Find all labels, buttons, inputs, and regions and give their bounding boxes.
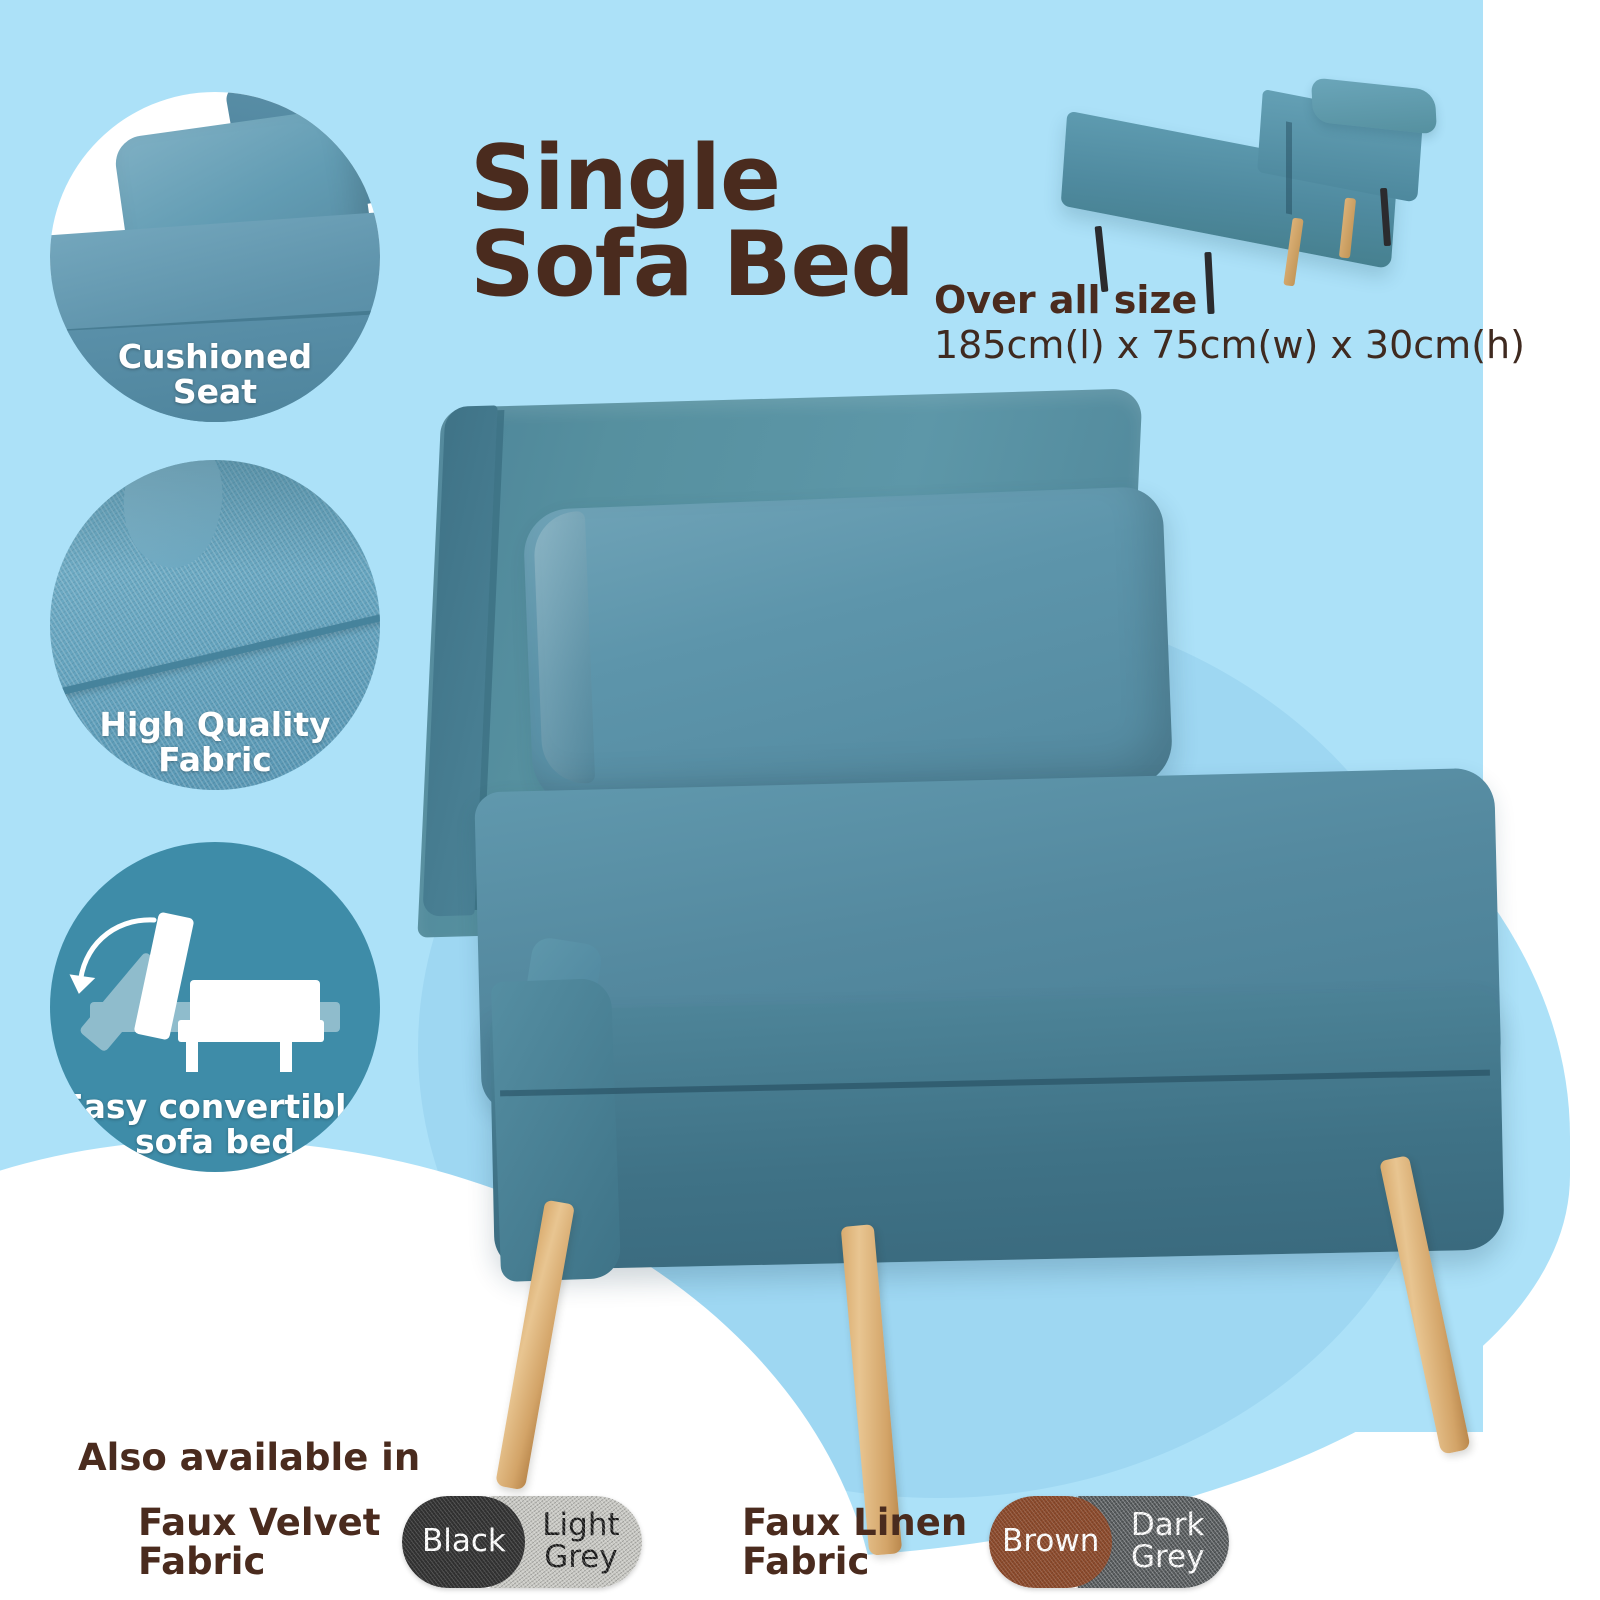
badge-fabric-shadow [50, 460, 380, 572]
fabric-label-linen: Faux Linen Fabric [742, 1503, 967, 1581]
feature-badge-easy-convertible: Easy convertible sofa bed [50, 842, 380, 1172]
sofa-bed-flat-photo [1050, 70, 1470, 290]
overall-size-block: Over all size 185cm(l) x 75cm(w) x 30cm(… [934, 278, 1525, 368]
flatbed-fold-seam [1286, 121, 1292, 214]
badge-caption-line-2: sofa bed [60, 1125, 370, 1160]
badge-caption: Easy convertible sofa bed [50, 1090, 380, 1160]
feature-badge-high-quality-fabric: High Quality Fabric [50, 460, 380, 790]
also-available-heading: Also available in [78, 1436, 420, 1479]
sofa-pillow-seam [533, 511, 595, 785]
fabric-label-line-2: Fabric [742, 1542, 967, 1581]
badge-caption-line-2: Fabric [60, 743, 370, 778]
badge-caption-line-1: High Quality [60, 708, 370, 743]
fabric-label-velvet: Faux Velvet Fabric [138, 1503, 380, 1581]
sofa-lumbar-pillow [522, 486, 1173, 810]
swatch-label-black: Black [422, 1526, 506, 1558]
title-line-1: Single [470, 136, 914, 222]
badge-caption: High Quality Fabric [50, 708, 380, 778]
swatch-label-line-1: Light [542, 1510, 619, 1542]
swatch-label-brown: Brown [1002, 1526, 1099, 1558]
swatch-label-line-2: Grey [542, 1542, 619, 1574]
page-title: Single Sofa Bed [470, 136, 914, 309]
product-infographic: Single Sofa Bed Over all size 185cm(l) x… [0, 0, 1600, 1600]
badge-caption-line-1: Easy convertible [60, 1090, 370, 1125]
sofa-base [489, 989, 1504, 1270]
title-line-2: Sofa Bed [470, 222, 914, 308]
colour-swatch-linen[interactable]: Brown Dark Grey [989, 1496, 1229, 1588]
badge-caption: Cushioned Seat [50, 340, 380, 410]
fabric-label-line-2: Fabric [138, 1542, 380, 1581]
option-group-faux-linen: Faux Linen Fabric Brown Dark Grey [742, 1496, 1229, 1588]
swatch-label-line-1: Dark [1131, 1510, 1205, 1542]
swatch-brown[interactable]: Brown [989, 1496, 1112, 1588]
swatch-black[interactable]: Black [402, 1496, 525, 1588]
swatch-label-line-2: Grey [1131, 1542, 1205, 1574]
size-dimensions: 185cm(l) x 75cm(w) x 30cm(h) [934, 323, 1525, 368]
size-label: Over all size [934, 278, 1525, 323]
convertible-sofa-bed-icon [50, 876, 380, 1072]
badge-caption-line-1: Cushioned [60, 340, 370, 375]
fabric-label-line-1: Faux Linen [742, 1503, 967, 1542]
swatch-label-dark-grey: Dark Grey [1131, 1510, 1205, 1573]
swatch-label-light-grey: Light Grey [542, 1510, 619, 1573]
badge-caption-line-2: Seat [60, 375, 370, 410]
colour-swatch-velvet[interactable]: Black Light Grey [402, 1496, 642, 1588]
fabric-label-line-1: Faux Velvet [138, 1503, 380, 1542]
available-colours-section: Also available in Faux Velvet Fabric Bla… [0, 1430, 1600, 1600]
feature-badge-cushioned-seat: Cushioned Seat [50, 92, 380, 422]
sofa-bed-upright-photo [400, 380, 1560, 1440]
option-group-faux-velvet: Faux Velvet Fabric Black Light Grey [138, 1496, 642, 1588]
